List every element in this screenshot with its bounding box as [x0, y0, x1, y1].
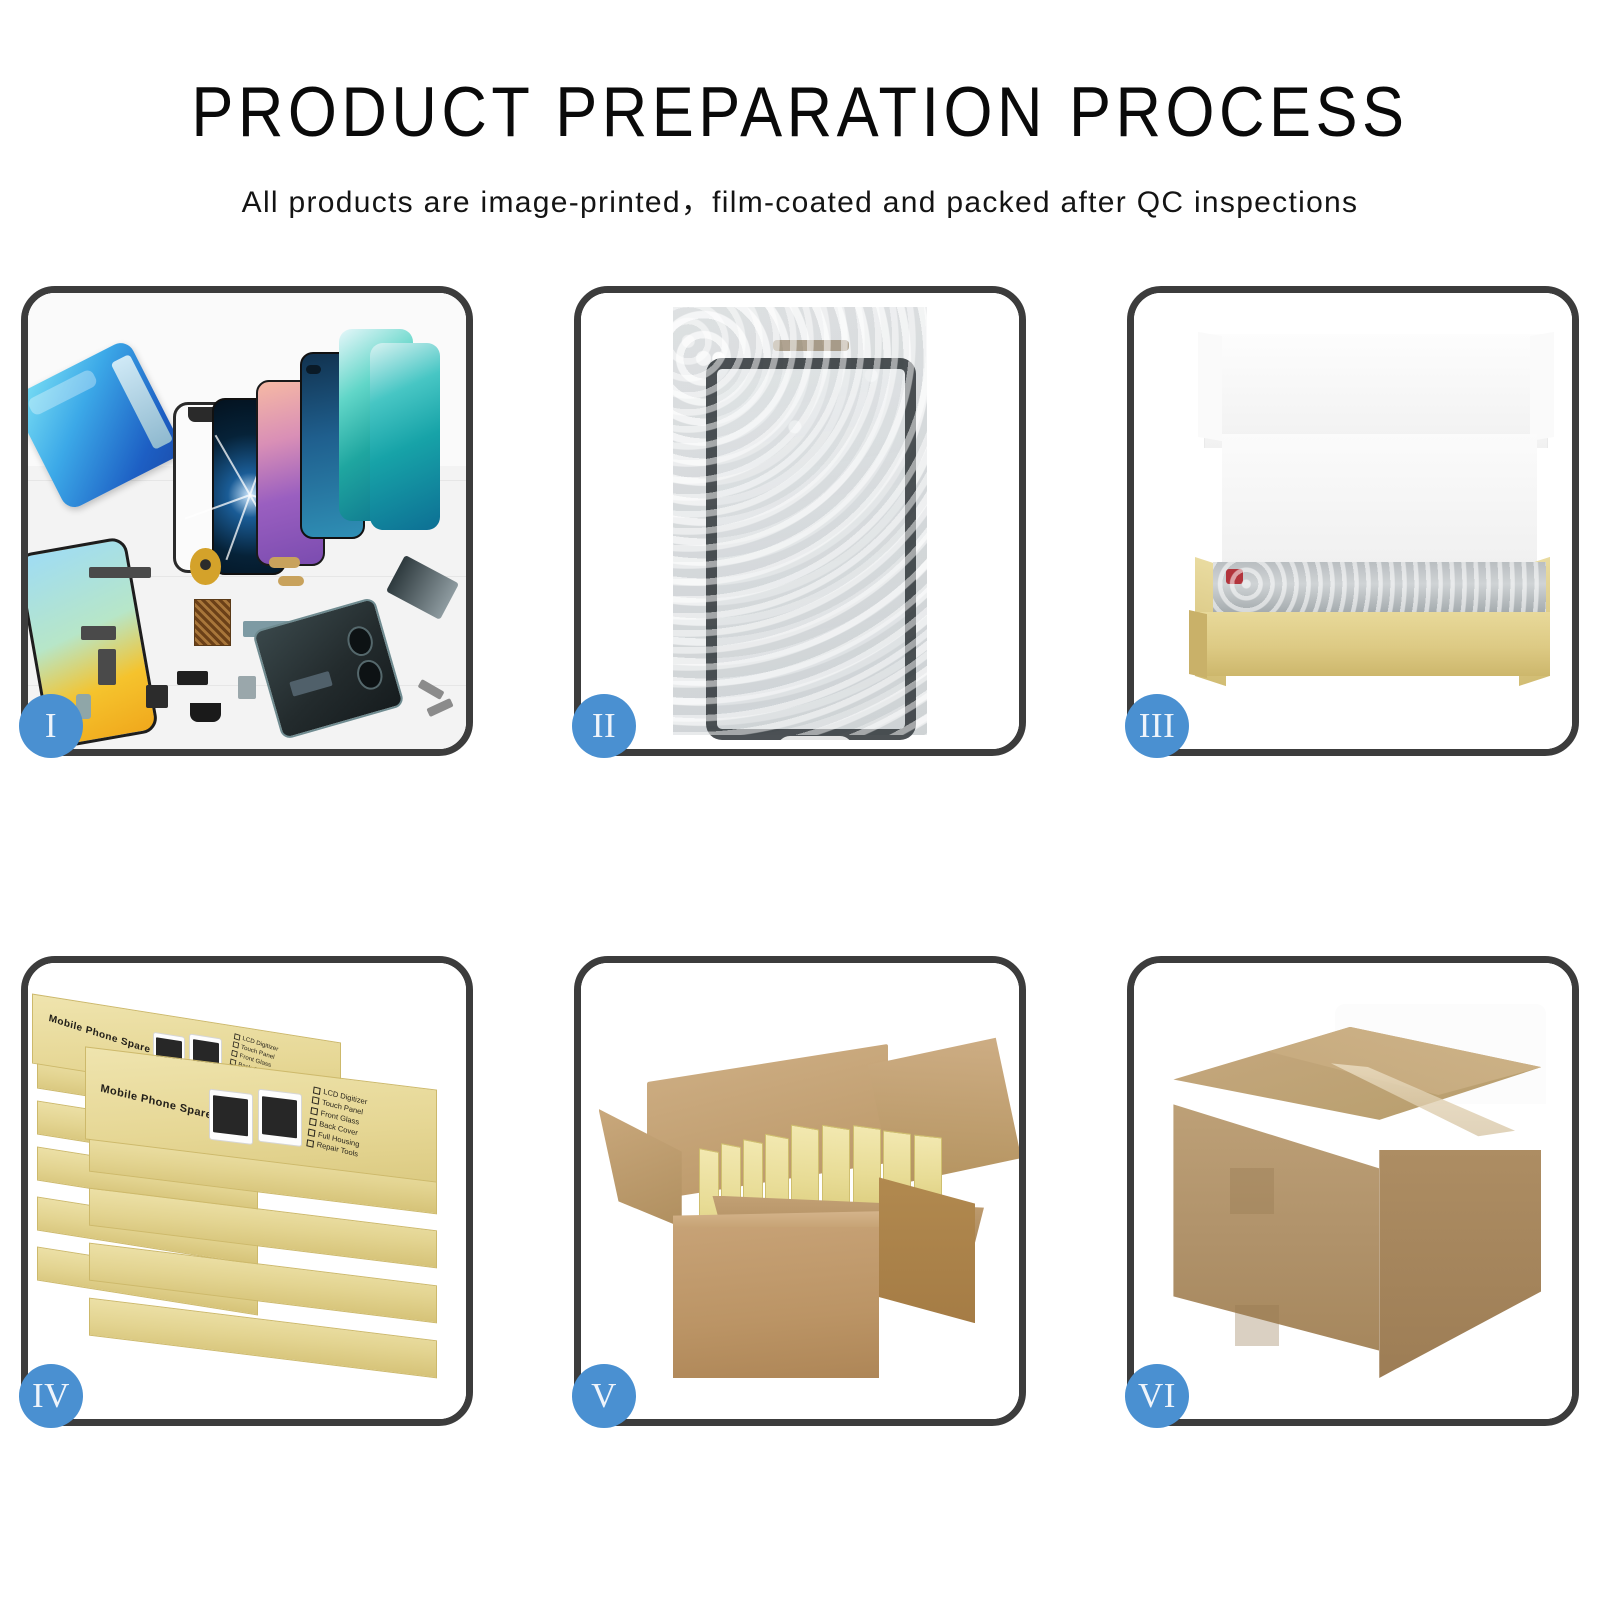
open-carton-filled-illustration: [581, 963, 1019, 1419]
wrapped-screen-in-box: [1213, 562, 1546, 617]
process-step-panel-2[interactable]: II: [574, 286, 1026, 756]
step-numeral: V: [591, 1376, 617, 1416]
process-step-panel-5[interactable]: V: [574, 956, 1026, 1426]
process-steps-grid: I II: [0, 286, 1600, 1426]
carton-side-right: [879, 1177, 975, 1323]
step-badge-4: IV: [19, 1364, 83, 1428]
step-numeral: IV: [32, 1376, 70, 1416]
carton-side-face: [1379, 1150, 1541, 1378]
page-subtitle: All products are image-printed，film-coat…: [0, 177, 1600, 221]
step-5-image: [581, 963, 1019, 1419]
screwdriver-icon: [385, 555, 458, 620]
bubble-wrap-sheet: [673, 307, 927, 736]
retail-box-checklist-2: LCD Digitizer Touch Panel Front Glass Ba…: [306, 1084, 368, 1161]
page-header: PRODUCT PREPARATION PROCESS All products…: [0, 0, 1600, 221]
step-3-image: [1134, 293, 1572, 749]
phone-motherboard-icon: [251, 597, 404, 741]
process-step-panel-1[interactable]: I: [21, 286, 473, 756]
carton-tab-upper: [1230, 1168, 1274, 1214]
step-badge-3: III: [1125, 694, 1189, 758]
box-lid: [1204, 334, 1548, 448]
step-badge-2: II: [572, 694, 636, 758]
step-1-image: [28, 293, 466, 749]
step-numeral: I: [45, 706, 57, 746]
process-step-panel-6[interactable]: VI: [1127, 956, 1579, 1426]
sealed-carton-illustration: [1134, 963, 1572, 1419]
phone-parts-collage-illustration: [28, 293, 466, 749]
step-badge-6: VI: [1125, 1364, 1189, 1428]
box-inner-wall: [1222, 434, 1537, 566]
teal-phone-icon: [370, 343, 440, 530]
process-step-panel-3[interactable]: III: [1127, 286, 1579, 756]
step-numeral: III: [1139, 706, 1175, 746]
step-6-image: [1134, 963, 1572, 1419]
bubble-wrapped-screen-illustration: [581, 293, 1019, 749]
stacked-retail-boxes-illustration: Mobile Phone Spare Parts LCD Digitizer T…: [28, 963, 466, 1419]
step-badge-5: V: [572, 1364, 636, 1428]
carton-front-face: [673, 1227, 879, 1377]
ic-chip-part-icon: [194, 599, 231, 647]
carton-tab-lower: [1235, 1305, 1279, 1346]
step-badge-1: I: [19, 694, 83, 758]
step-numeral: II: [592, 706, 616, 746]
box-body: [1200, 612, 1550, 676]
wireless-coil-part-icon: [190, 548, 221, 584]
step-4-image: Mobile Phone Spare Parts LCD Digitizer T…: [28, 963, 466, 1419]
page-title: PRODUCT PREPARATION PROCESS: [0, 78, 1600, 149]
process-step-panel-4[interactable]: Mobile Phone Spare Parts LCD Digitizer T…: [21, 956, 473, 1426]
open-mailer-box-illustration: [1134, 293, 1572, 749]
step-numeral: VI: [1138, 1376, 1176, 1416]
step-2-image: [581, 293, 1019, 749]
